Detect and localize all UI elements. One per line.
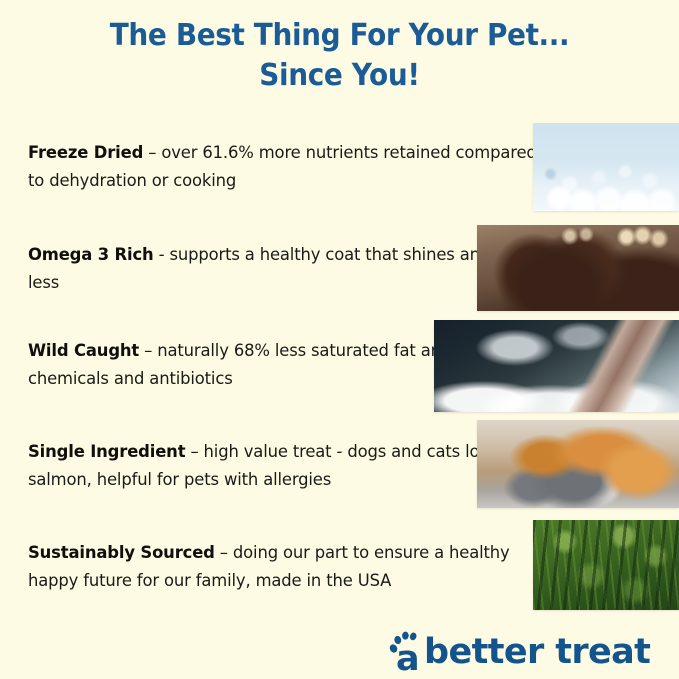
brand-logo: a better treat xyxy=(388,630,650,672)
feature-term: Single Ingredient xyxy=(28,442,185,461)
svg-text:a: a xyxy=(396,639,419,672)
chocolate-labrador-photo xyxy=(477,225,679,311)
feature-item-sustainably-sourced: Sustainably Sourced – doing our part to … xyxy=(28,539,548,595)
feature-item-freeze-dried: Freeze Dried – over 61.6% more nutrients… xyxy=(28,139,548,195)
green-forest-photo xyxy=(533,520,679,610)
page-title: The Best Thing For Your Pet... Since You… xyxy=(24,16,655,96)
ice-crystals-photo xyxy=(533,123,679,211)
cat-and-dog-photo xyxy=(477,420,679,508)
infographic-page: The Best Thing For Your Pet... Since You… xyxy=(0,0,679,679)
feature-term: Sustainably Sourced xyxy=(28,543,215,562)
headline-line-2: Since You! xyxy=(24,56,655,96)
feature-term: Freeze Dried xyxy=(28,143,143,162)
feature-term: Omega 3 Rich xyxy=(28,245,154,264)
feature-item-single-ingredient: Single Ingredient – high value treat - d… xyxy=(28,438,548,494)
leaping-salmon-photo xyxy=(434,320,679,412)
feature-term: Wild Caught xyxy=(28,341,139,360)
feature-item-omega-3-rich: Omega 3 Rich - supports a healthy coat t… xyxy=(28,241,548,297)
logo-wordmark: better treat xyxy=(424,635,650,672)
paw-print-icon: a xyxy=(388,630,428,672)
headline-line-1: The Best Thing For Your Pet... xyxy=(110,18,569,53)
